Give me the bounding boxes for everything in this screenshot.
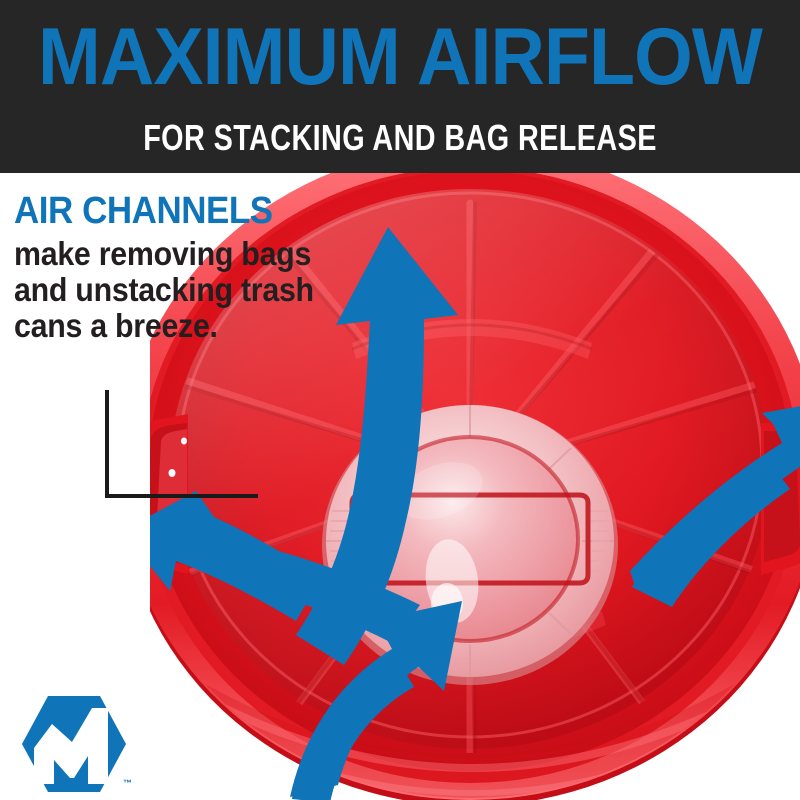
- m-hexagon-logo-mark: [22, 696, 126, 792]
- page-title: MAXIMUM AIRFLOW: [28, 14, 772, 100]
- trademark-symbol: ™: [123, 778, 132, 788]
- brand-logo: ™: [18, 694, 130, 794]
- page-subtitle: FOR STACKING AND BAG RELEASE: [80, 118, 720, 158]
- header-band: MAXIMUM AIRFLOW FOR STACKING AND BAG REL…: [0, 0, 800, 173]
- infographic-poster: MAXIMUM AIRFLOW FOR STACKING AND BAG REL…: [0, 0, 800, 800]
